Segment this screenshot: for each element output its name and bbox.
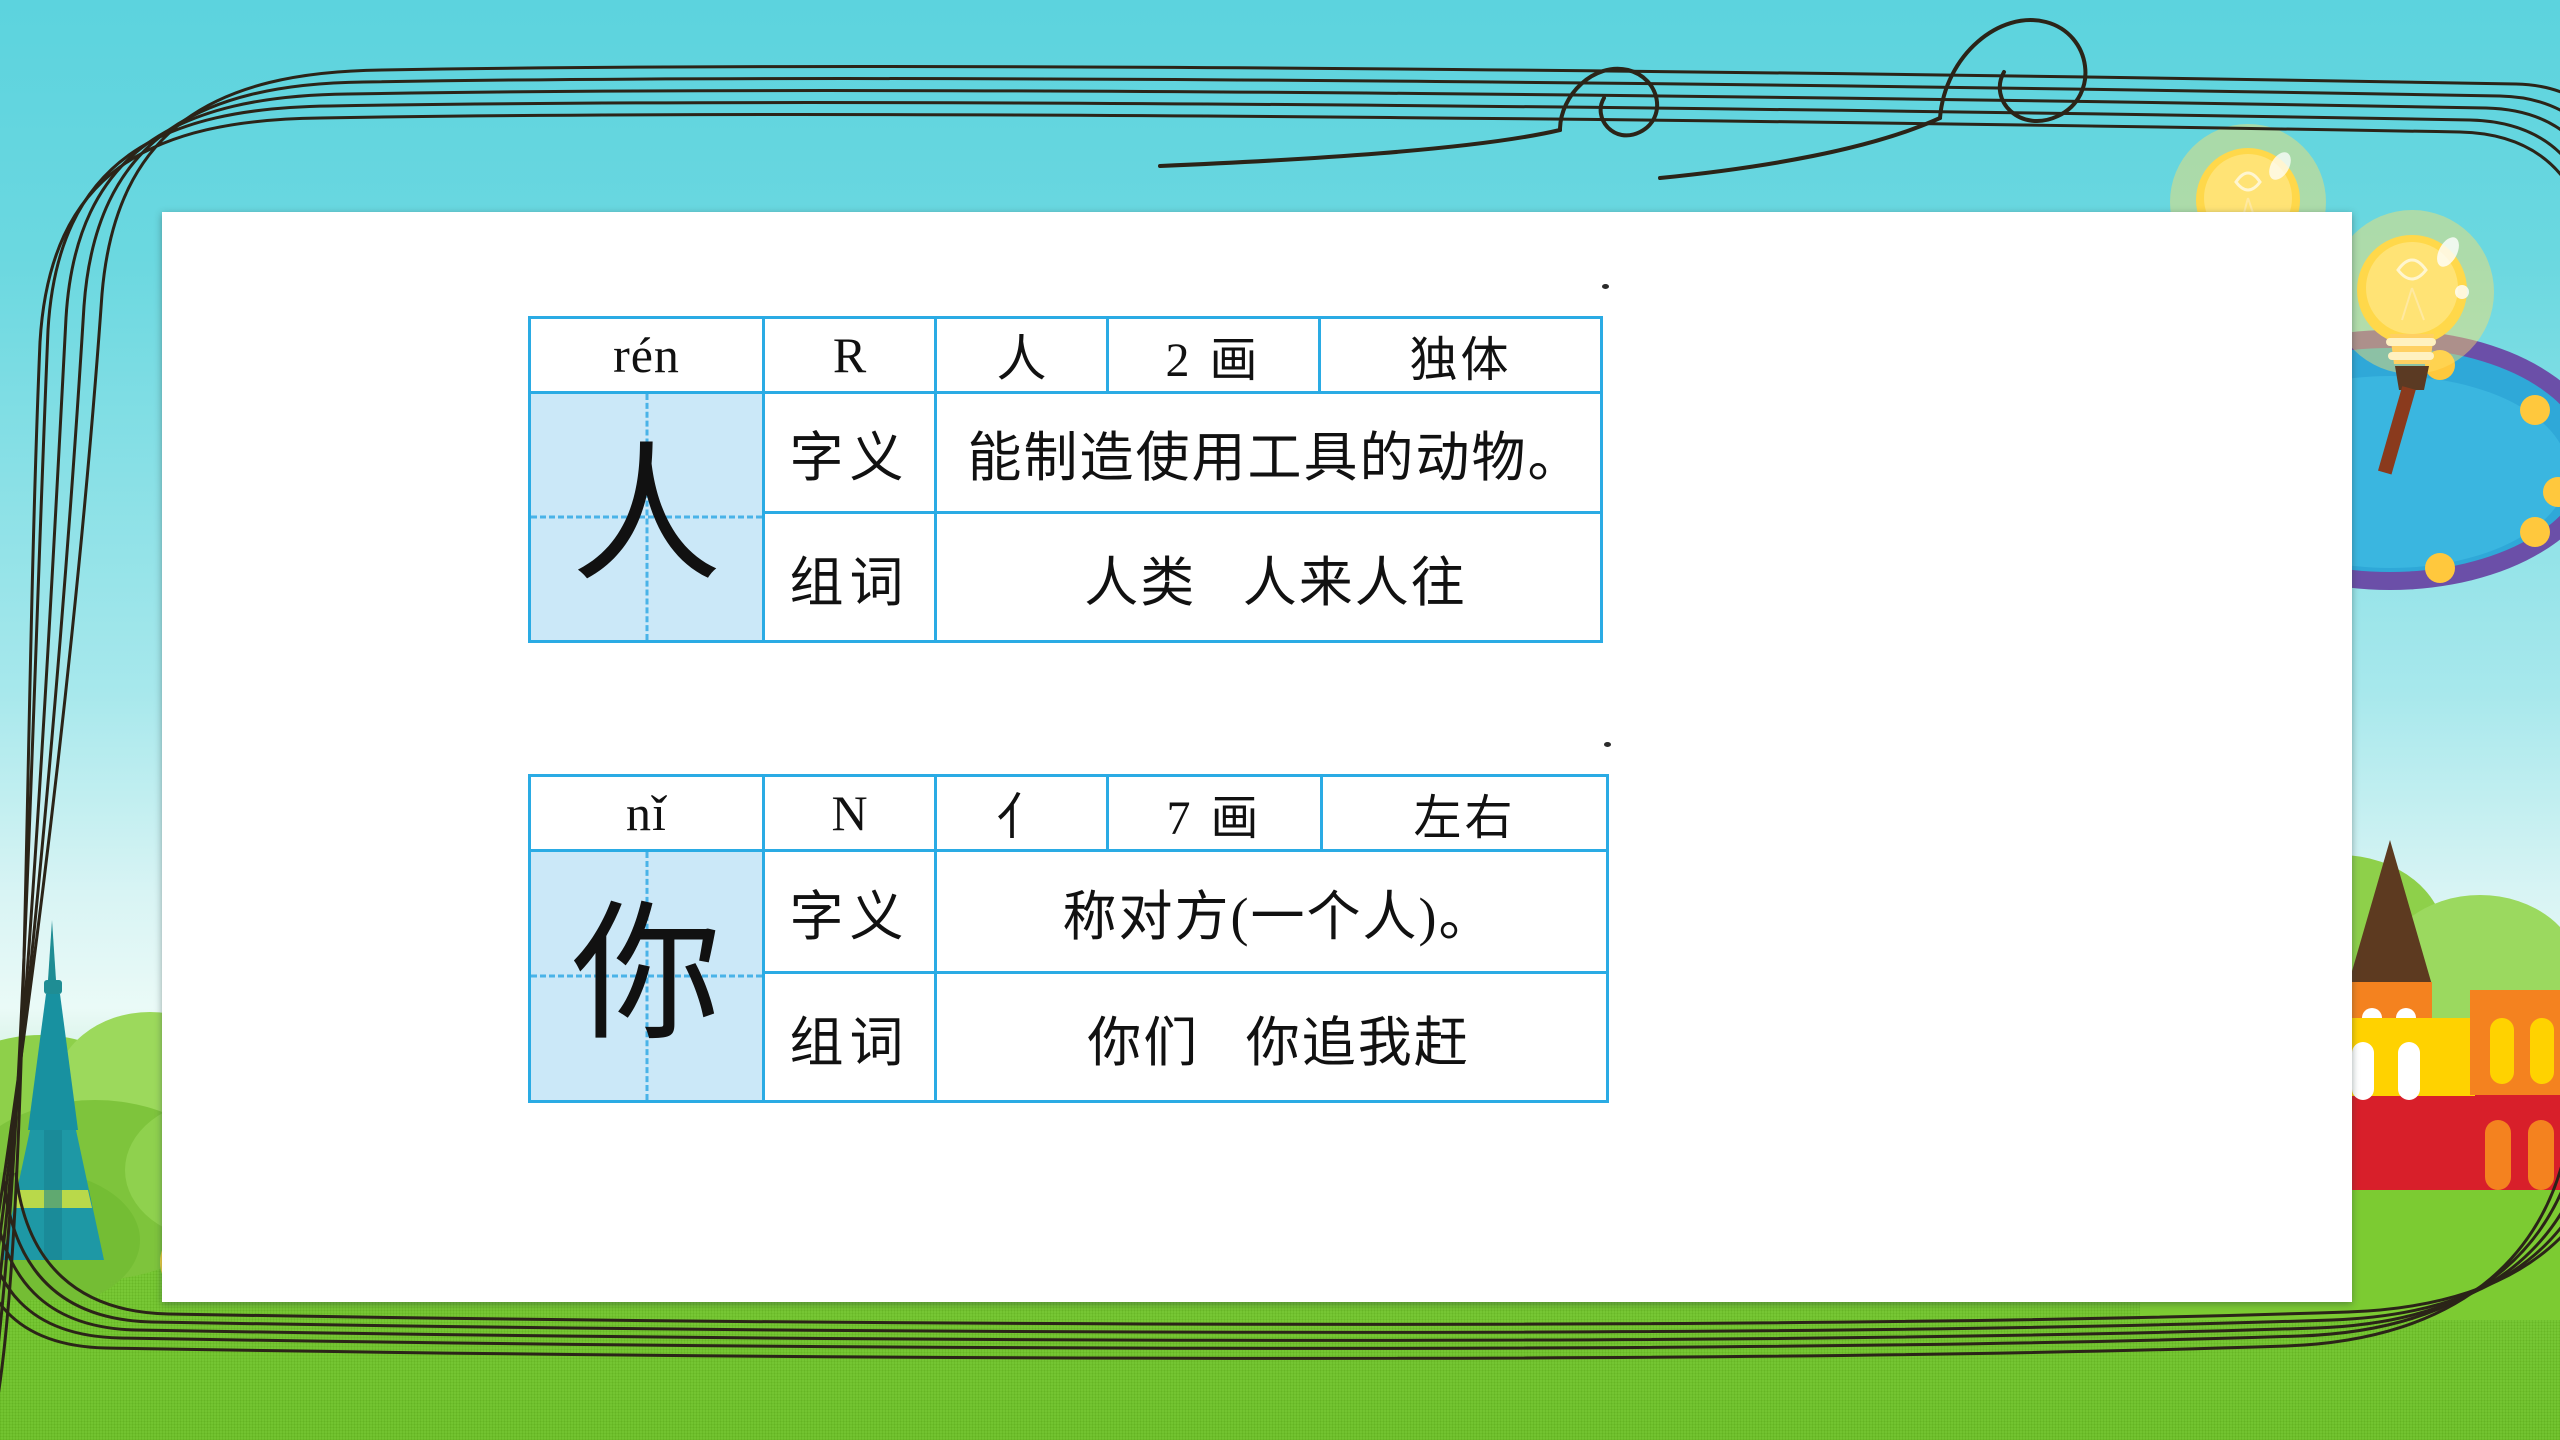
table-row-header: rén R 人 2 画 独体 [530, 318, 1602, 393]
structure-cell: 独体 [1320, 318, 1602, 393]
meaning-text: 能制造使用工具的动物。 [936, 393, 1602, 513]
table-corner-dot [1604, 742, 1611, 747]
pinyin-cell: rén [530, 318, 764, 393]
table-row-meaning: 你 字义 称对方(一个人)。 [530, 851, 1608, 973]
stroke-count-cell: 7 画 [1108, 776, 1322, 851]
big-character-cell: 人 [530, 393, 764, 642]
meaning-label: 字义 [764, 393, 936, 513]
hanzi-card-ni: nǐ N 亻 7 画 左右 你 字义 称对方(一个人)。 组词 [528, 774, 1609, 1103]
table-row-meaning: 人 字义 能制造使用工具的动物。 [530, 393, 1602, 513]
meaning-text: 称对方(一个人)。 [936, 851, 1608, 973]
words-label: 组词 [764, 973, 936, 1102]
words-text: 你们 你追我赶 [936, 973, 1608, 1102]
content-card: rén R 人 2 画 独体 人 字义 能制造使用工具的动物。 组词 [162, 212, 2352, 1302]
structure-cell: 左右 [1322, 776, 1608, 851]
slide-canvas: rén R 人 2 画 独体 人 字义 能制造使用工具的动物。 组词 [0, 0, 2560, 1440]
initial-letter-cell: R [764, 318, 936, 393]
pinyin-cell: nǐ [530, 776, 764, 851]
character-glyph: 你 [571, 893, 721, 1059]
words-text: 人类 人来人往 [936, 513, 1602, 642]
hanzi-card-ren: rén R 人 2 画 独体 人 字义 能制造使用工具的动物。 组词 [528, 316, 1603, 643]
meaning-label: 字义 [764, 851, 936, 973]
table-corner-dot [1602, 284, 1609, 289]
radical-cell: 人 [936, 318, 1108, 393]
big-character-cell: 你 [530, 851, 764, 1102]
stroke-count-cell: 2 画 [1108, 318, 1320, 393]
initial-letter-cell: N [764, 776, 936, 851]
words-label: 组词 [764, 513, 936, 642]
radical-cell: 亻 [936, 776, 1108, 851]
table-row-header: nǐ N 亻 7 画 左右 [530, 776, 1608, 851]
character-glyph: 人 [571, 434, 721, 600]
